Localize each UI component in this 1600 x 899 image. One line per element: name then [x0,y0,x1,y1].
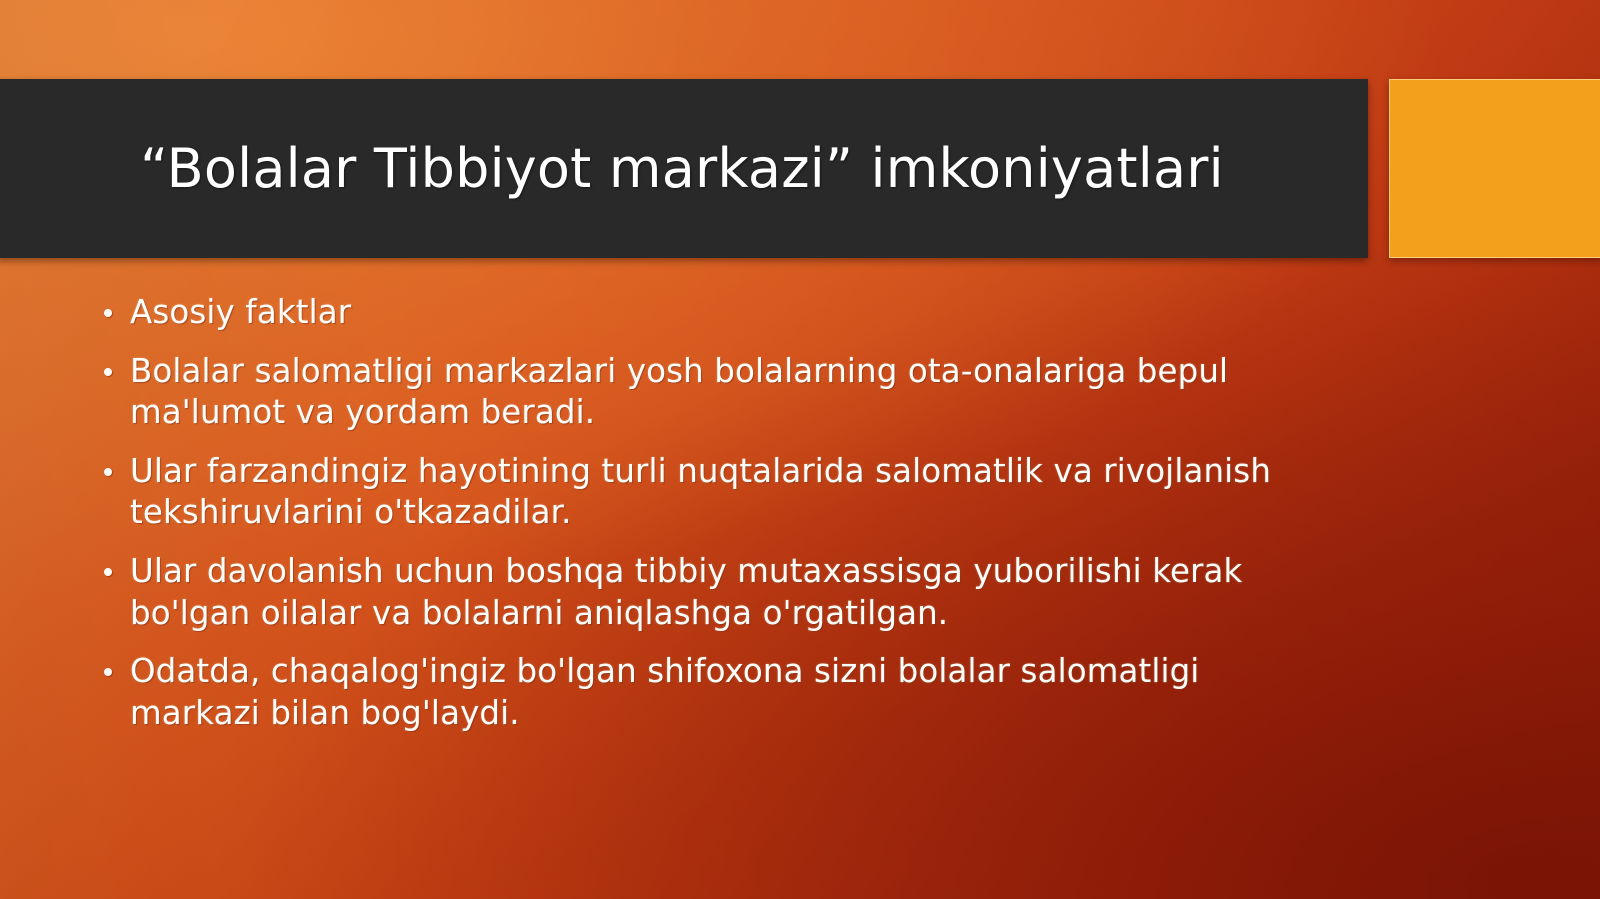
title-band: “Bolalar Tibbiyot markazi” imkoniyatlari [0,79,1368,258]
accent-block [1389,79,1600,258]
bullet-list: Asosiy faktlar Bolalar salomatligi marka… [88,292,1338,751]
list-item-label: Bolalar salomatligi markazlari yosh bola… [130,352,1228,432]
presentation-slide: “Bolalar Tibbiyot markazi” imkoniyatlari… [0,0,1600,899]
list-item: Ular davolanish uchun boshqa tibbiy muta… [88,551,1338,634]
list-item-label: Ular farzandingiz hayotining turli nuqta… [130,452,1271,532]
list-item: Asosiy faktlar [88,292,1338,334]
list-item: Ular farzandingiz hayotining turli nuqta… [88,451,1338,534]
list-item-label: Odatda, chaqalog'ingiz bo'lgan shifoxona… [130,652,1199,732]
list-item: Odatda, chaqalog'ingiz bo'lgan shifoxona… [88,651,1338,734]
page-title: “Bolalar Tibbiyot markazi” imkoniyatlari [0,139,1368,197]
list-item: Bolalar salomatligi markazlari yosh bola… [88,351,1338,434]
list-item-label: Ular davolanish uchun boshqa tibbiy muta… [130,552,1242,632]
list-item-label: Asosiy faktlar [130,293,351,331]
